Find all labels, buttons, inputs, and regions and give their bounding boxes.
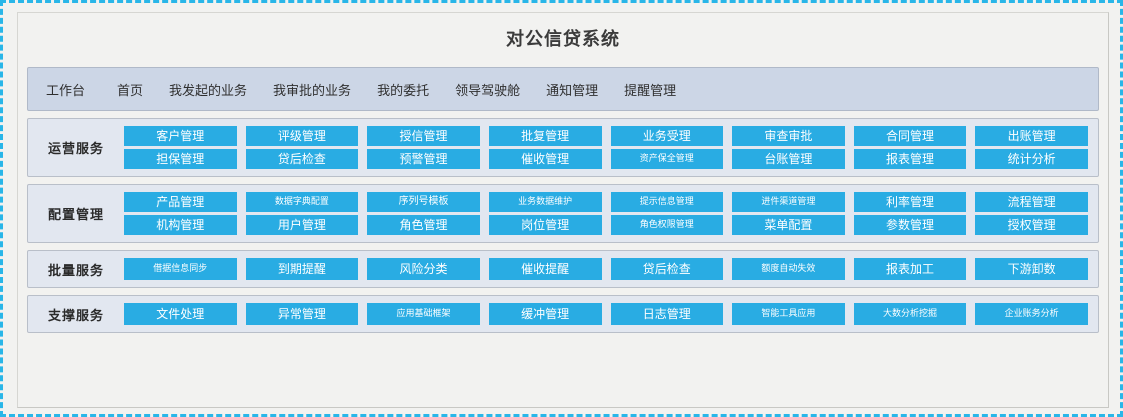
nav-item[interactable]: 通知管理	[546, 80, 598, 99]
sections-container: 运营服务客户管理评级管理授信管理批复管理业务受理审查审批合同管理出账管理担保管理…	[18, 118, 1108, 333]
module-tile[interactable]: 下游卸数	[975, 258, 1088, 280]
page-surface: 对公信贷系统 工作台首页我发起的业务我审批的业务我的委托领导驾驶舱通知管理提醒管…	[17, 12, 1109, 408]
module-tile[interactable]: 报表加工	[854, 258, 967, 280]
module-tile[interactable]: 进件渠道管理	[732, 192, 845, 212]
module-tile[interactable]: 角色管理	[367, 215, 480, 235]
module-tile[interactable]: 菜单配置	[732, 215, 845, 235]
module-tile[interactable]: 额度自动失效	[732, 258, 845, 280]
section-label: 支撑服务	[28, 305, 124, 324]
module-tile[interactable]: 利率管理	[854, 192, 967, 212]
module-tile[interactable]: 参数管理	[854, 215, 967, 235]
module-tile[interactable]: 异常管理	[246, 303, 359, 325]
module-tile[interactable]: 出账管理	[975, 126, 1088, 146]
module-tile[interactable]: 序列号模板	[367, 192, 480, 212]
module-tile[interactable]: 贷后检查	[246, 149, 359, 169]
nav-item[interactable]: 我的委托	[377, 80, 429, 99]
module-tile[interactable]: 到期提醒	[246, 258, 359, 280]
module-tile[interactable]: 岗位管理	[489, 215, 602, 235]
module-tile[interactable]: 风险分类	[367, 258, 480, 280]
nav-item[interactable]: 我审批的业务	[273, 80, 351, 99]
module-tile[interactable]: 报表管理	[854, 149, 967, 169]
nav-item[interactable]: 工作台	[46, 80, 85, 99]
section-panel: 运营服务客户管理评级管理授信管理批复管理业务受理审查审批合同管理出账管理担保管理…	[27, 118, 1099, 177]
module-tile[interactable]: 预警管理	[367, 149, 480, 169]
section-label: 配置管理	[28, 204, 124, 223]
section-tile-grid: 借据信息同步到期提醒风险分类催收提醒贷后检查额度自动失效报表加工下游卸数	[124, 258, 1088, 280]
nav-item[interactable]: 首页	[117, 80, 143, 99]
section-panel: 批量服务借据信息同步到期提醒风险分类催收提醒贷后检查额度自动失效报表加工下游卸数	[27, 250, 1099, 288]
section-panel: 支撑服务文件处理异常管理应用基础框架缓冲管理日志管理智能工具应用大数分析挖掘企业…	[27, 295, 1099, 333]
module-tile[interactable]: 贷后检查	[611, 258, 724, 280]
module-tile[interactable]: 授信管理	[367, 126, 480, 146]
module-tile[interactable]: 数据字典配置	[246, 192, 359, 212]
module-tile[interactable]: 缓冲管理	[489, 303, 602, 325]
section-label: 批量服务	[28, 260, 124, 279]
module-tile[interactable]: 企业账务分析	[975, 303, 1088, 325]
section-tile-grid: 文件处理异常管理应用基础框架缓冲管理日志管理智能工具应用大数分析挖掘企业账务分析	[124, 303, 1088, 325]
module-tile[interactable]: 流程管理	[975, 192, 1088, 212]
module-tile[interactable]: 应用基础框架	[367, 303, 480, 325]
module-tile[interactable]: 借据信息同步	[124, 258, 237, 280]
module-tile[interactable]: 担保管理	[124, 149, 237, 169]
module-tile[interactable]: 统计分析	[975, 149, 1088, 169]
screenshot-frame: 对公信贷系统 工作台首页我发起的业务我审批的业务我的委托领导驾驶舱通知管理提醒管…	[0, 0, 1123, 417]
nav-item[interactable]: 领导驾驶舱	[455, 80, 520, 99]
module-tile[interactable]: 文件处理	[124, 303, 237, 325]
module-tile[interactable]: 日志管理	[611, 303, 724, 325]
nav-item[interactable]: 提醒管理	[624, 80, 676, 99]
module-tile[interactable]: 业务数据维护	[489, 192, 602, 212]
module-tile[interactable]: 用户管理	[246, 215, 359, 235]
module-tile[interactable]: 客户管理	[124, 126, 237, 146]
module-tile[interactable]: 催收提醒	[489, 258, 602, 280]
module-tile[interactable]: 业务受理	[611, 126, 724, 146]
module-tile[interactable]: 台账管理	[732, 149, 845, 169]
module-tile[interactable]: 产品管理	[124, 192, 237, 212]
module-tile[interactable]: 大数分析挖掘	[854, 303, 967, 325]
module-tile[interactable]: 角色权限管理	[611, 215, 724, 235]
module-tile[interactable]: 智能工具应用	[732, 303, 845, 325]
section-label: 运营服务	[28, 138, 124, 157]
module-tile[interactable]: 提示信息管理	[611, 192, 724, 212]
module-tile[interactable]: 授权管理	[975, 215, 1088, 235]
main-navigation-bar: 工作台首页我发起的业务我审批的业务我的委托领导驾驶舱通知管理提醒管理	[27, 67, 1099, 111]
module-tile[interactable]: 审查审批	[732, 126, 845, 146]
page-title: 对公信贷系统	[18, 13, 1108, 67]
nav-item[interactable]: 我发起的业务	[169, 80, 247, 99]
section-tile-grid: 客户管理评级管理授信管理批复管理业务受理审查审批合同管理出账管理担保管理贷后检查…	[124, 126, 1088, 169]
module-tile[interactable]: 合同管理	[854, 126, 967, 146]
module-tile[interactable]: 机构管理	[124, 215, 237, 235]
module-tile[interactable]: 催收管理	[489, 149, 602, 169]
section-tile-grid: 产品管理数据字典配置序列号模板业务数据维护提示信息管理进件渠道管理利率管理流程管…	[124, 192, 1088, 235]
section-panel: 配置管理产品管理数据字典配置序列号模板业务数据维护提示信息管理进件渠道管理利率管…	[27, 184, 1099, 243]
module-tile[interactable]: 批复管理	[489, 126, 602, 146]
module-tile[interactable]: 评级管理	[246, 126, 359, 146]
module-tile[interactable]: 资产保全管理	[611, 149, 724, 169]
